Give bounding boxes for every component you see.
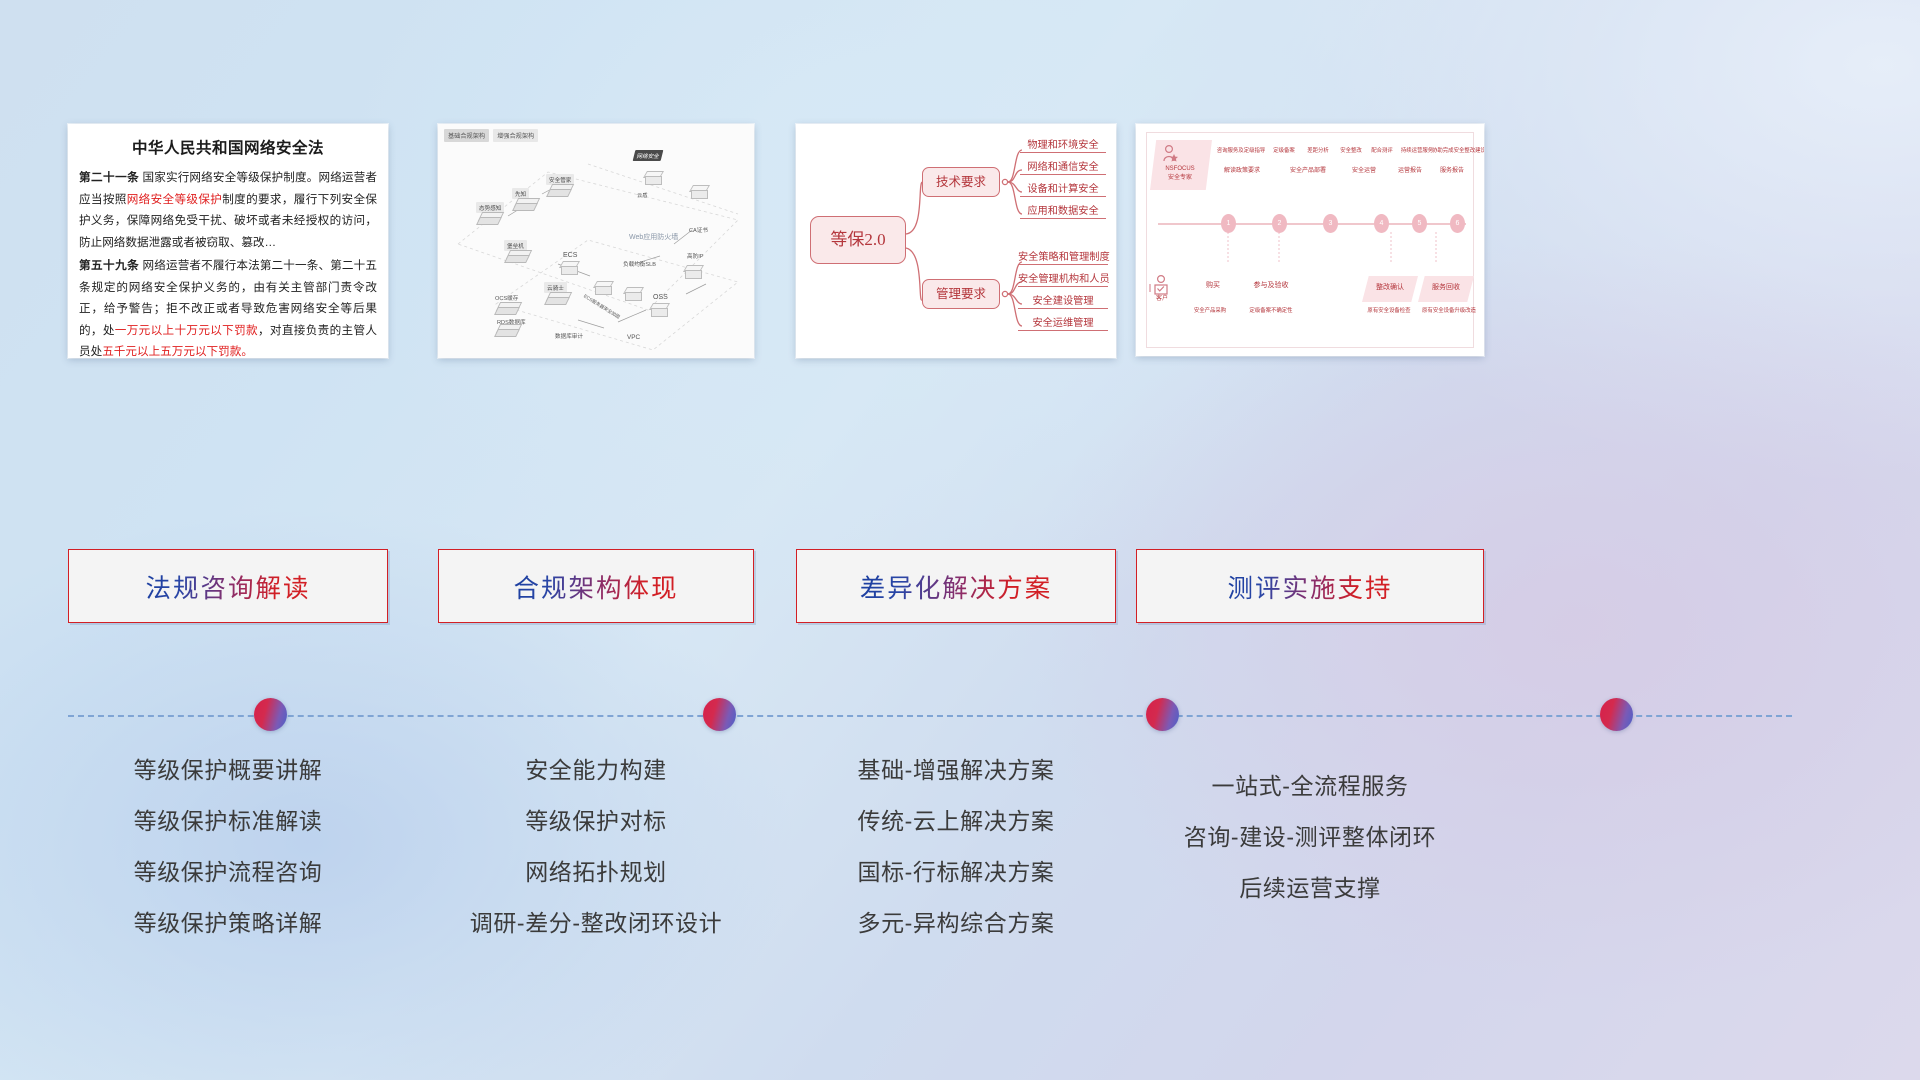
arch-puck-1 — [550, 184, 572, 197]
arch-cube-oss — [650, 302, 670, 318]
list-item: 基础-增强解决方案 — [796, 745, 1116, 796]
section-header-2[interactable]: 差异化解决方案 — [796, 549, 1116, 623]
timeline-bead-2[interactable] — [1146, 698, 1179, 731]
arch-puck-12 — [498, 302, 520, 315]
list-item: 调研-差分-整改闭环设计 — [438, 898, 754, 949]
law-article-21: 第二十一条 国家实行网络安全等级保护制度。网络运营者应当按照网络安全等级保护制度… — [79, 167, 377, 253]
list-item: 网络拓扑规划 — [438, 847, 754, 898]
list-item: 一站式-全流程服务 — [1136, 761, 1484, 812]
mindmap-leaf-0-0: 物理和环境安全 — [1020, 136, 1106, 153]
timeline-bead-0[interactable] — [254, 698, 287, 731]
section-header-3[interactable]: 测评实施支持 — [1136, 549, 1484, 623]
section-header-0[interactable]: 法规咨询解读 — [68, 549, 388, 623]
poster-stage: 中华人民共和国网络安全法 第二十一条 国家实行网络安全等级保护制度。网络运营者应… — [0, 0, 1920, 1080]
law-article-59-highlight-1: 一万元以上十万元以下罚款 — [115, 324, 258, 337]
law-article-21-highlight: 网络安全等级保护 — [127, 193, 222, 206]
mindmap-leaf-1-2: 安全建设管理 — [1018, 292, 1108, 309]
arch-node-0: 网络安全 — [633, 150, 664, 161]
arch-cube-b — [624, 286, 644, 302]
nsfocus-bottom-step-1: 参与及验收 — [1246, 282, 1296, 289]
nsfocus-axis — [1136, 124, 1484, 356]
mindmap-leaf-0-1: 网络和通信安全 — [1020, 158, 1106, 175]
nsfocus-bottom-step-2: 整改确认 — [1362, 284, 1418, 291]
list-item: 等级保护策略详解 — [68, 898, 388, 949]
mindmap-leaf-0-2: 设备和计算安全 — [1020, 180, 1106, 197]
list-item: 多元-异构综合方案 — [796, 898, 1116, 949]
law-article-59: 第五十九条 网络运营者不履行本法第二十一条、第二十五条规定的网络安全保护义务的，… — [79, 255, 377, 358]
arch-puck-2 — [516, 198, 538, 211]
preview-cards-row: 中华人民共和国网络安全法 第二十一条 国家实行网络安全等级保护制度。网络运营者应… — [0, 124, 1920, 364]
timeline-dashed-line — [68, 715, 1792, 717]
section-lists-row: 等级保护概要讲解 等级保护标准解读 等级保护流程咨询 等级保护策略详解 安全能力… — [0, 745, 1920, 965]
preview-card-mindmap[interactable]: 等保2.0 技术要求 管理要求 物理和环境安全 网络和通信安全 设备和计算安全 … — [796, 124, 1116, 358]
nsfocus-step-number-2: 3 — [1323, 214, 1338, 233]
nsfocus-step-number-4: 5 — [1412, 214, 1427, 233]
list-item: 等级保护流程咨询 — [68, 847, 388, 898]
preview-card-architecture[interactable]: 基础合规架构 增强合规架构 网络安全 — [438, 124, 754, 358]
arch-node-8: 高防IP — [684, 250, 706, 261]
arch-cube-ecs — [560, 260, 580, 276]
arch-cube-c — [690, 184, 710, 200]
mindmap-leaf-0-3: 应用和数据安全 — [1020, 202, 1106, 219]
list-item: 咨询-建设-测评整体闭环 — [1136, 812, 1484, 863]
mindmap-leaf-1-1: 安全管理机构和人员 — [1018, 270, 1108, 287]
mindmap-branch-0: 技术要求 — [922, 167, 1000, 197]
list-item: 等级保护对标 — [438, 796, 754, 847]
arch-node-6: 负载均衡SLB — [620, 258, 659, 269]
nsfocus-customer-role: 客户 — [1142, 296, 1182, 303]
nsfocus-step-number-3: 4 — [1374, 214, 1389, 233]
nsfocus-bottom-step-3: 服务回收 — [1418, 284, 1474, 291]
nsfocus-bottom-sub-2: 原有安全设备检查 — [1358, 308, 1420, 315]
section-header-label-0: 法规咨询解读 — [145, 568, 310, 605]
mindmap-root: 等保2.0 — [810, 216, 906, 264]
timeline — [0, 696, 1920, 736]
arch-node-16: 数据库审计 — [552, 330, 586, 341]
arch-node-9: 云盾 — [634, 190, 650, 200]
list-item: 安全能力构建 — [438, 745, 754, 796]
nsfocus-bottom-step-0: 购买 — [1196, 282, 1230, 289]
architecture-connectors — [438, 124, 754, 358]
list-item: 传统-云上解决方案 — [796, 796, 1116, 847]
arch-node-14: OSS — [650, 292, 671, 302]
list-item: 后续运营支撑 — [1136, 863, 1484, 914]
section-list-1: 安全能力构建 等级保护对标 网络拓扑规划 调研-差分-整改闭环设计 — [438, 745, 754, 949]
list-item: 等级保护概要讲解 — [68, 745, 388, 796]
customer-person-icon — [1152, 274, 1172, 296]
timeline-bead-3[interactable] — [1600, 698, 1633, 731]
arch-node-10: ECS — [560, 250, 580, 260]
law-article-59-highlight-2: 五千元以上五万元以下罚款。 — [102, 345, 253, 358]
law-article-59-label: 第五十九条 — [79, 259, 139, 272]
mindmap-leaf-1-0: 安全策略和管理制度 — [1018, 248, 1108, 265]
nsfocus-step-number-5: 6 — [1450, 214, 1465, 233]
section-header-label-2: 差异化解决方案 — [860, 568, 1053, 605]
arch-cube-a — [594, 280, 614, 296]
section-list-0: 等级保护概要讲解 等级保护标准解读 等级保护流程咨询 等级保护策略详解 — [68, 745, 388, 949]
nsfocus-step-number-0: 1 — [1221, 214, 1236, 233]
nsfocus-bottom-sub-0: 安全产品采购 — [1182, 308, 1238, 315]
mindmap-leaf-1-3: 安全运维管理 — [1018, 314, 1108, 331]
mindmap-diagram: 等保2.0 技术要求 管理要求 物理和环境安全 网络和通信安全 设备和计算安全 … — [796, 124, 1116, 358]
law-title: 中华人民共和国网络安全法 — [79, 136, 377, 158]
architecture-diagram: 基础合规架构 增强合规架构 网络安全 — [438, 124, 754, 358]
arch-puck-3 — [480, 212, 502, 225]
nsfocus-bottom-sub-3: 原有安全设备升级改造 — [1418, 308, 1480, 315]
arch-cube-e — [684, 264, 704, 280]
arch-node-15: VPC — [624, 332, 643, 342]
law-article-21-label: 第二十一条 — [79, 171, 139, 184]
nsfocus-bottom-sub-1: 定级备案不确定性 — [1240, 308, 1302, 315]
preview-card-law[interactable]: 中华人民共和国网络安全法 第二十一条 国家实行网络安全等级保护制度。网络运营者应… — [68, 124, 388, 358]
arch-puck-4 — [508, 250, 530, 263]
section-headers-row: 法规咨询解读 合规架构体现 差异化解决方案 测评实施支持 — [0, 549, 1920, 623]
section-header-label-3: 测评实施支持 — [1227, 568, 1392, 605]
nsfocus-timeline: NSFOCUS 安全专家 咨询服务及定级指导 定级备案 差距分析 安全整改 配合… — [1136, 124, 1484, 356]
section-list-3: 一站式-全流程服务 咨询-建设-测评整体闭环 后续运营支撑 — [1136, 761, 1484, 914]
list-item: 等级保护标准解读 — [68, 796, 388, 847]
arch-node-5: Web应用防火墙 — [626, 230, 681, 243]
arch-cube-d — [644, 170, 664, 186]
arch-node-7: CA证书 — [686, 224, 711, 235]
list-item: 国标-行标解决方案 — [796, 847, 1116, 898]
arch-puck-13 — [498, 324, 520, 337]
preview-card-nsfocus-timeline[interactable]: NSFOCUS 安全专家 咨询服务及定级指导 定级备案 差距分析 安全整改 配合… — [1136, 124, 1484, 356]
section-list-2: 基础-增强解决方案 传统-云上解决方案 国标-行标解决方案 多元-异构综合方案 — [796, 745, 1116, 949]
timeline-bead-1[interactable] — [703, 698, 736, 731]
section-header-label-1: 合规架构体现 — [513, 568, 678, 605]
section-header-1[interactable]: 合规架构体现 — [438, 549, 754, 623]
mindmap-branch-1: 管理要求 — [922, 279, 1000, 309]
nsfocus-step-number-1: 2 — [1272, 214, 1287, 233]
law-document: 中华人民共和国网络安全法 第二十一条 国家实行网络安全等级保护制度。网络运营者应… — [68, 124, 388, 358]
arch-puck-11 — [548, 292, 570, 305]
